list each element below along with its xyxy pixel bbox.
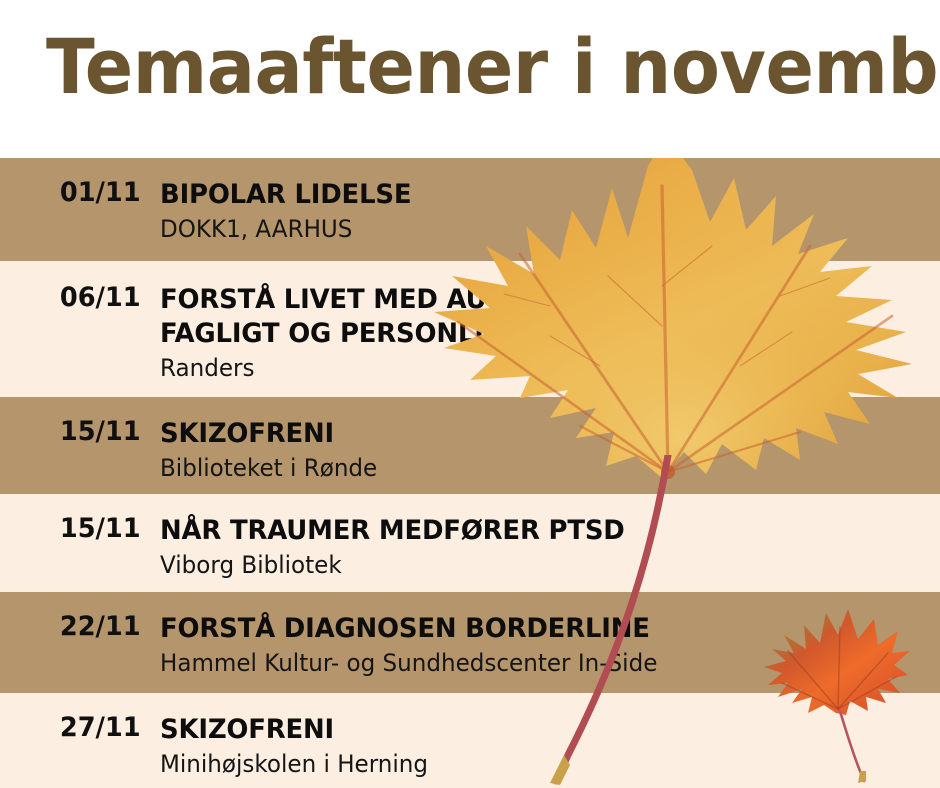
event-body: BIPOLAR LIDELSEDOKK1, AARHUS bbox=[160, 178, 940, 244]
event-body: SKIZOFRENIMinihøjskolen i Herning bbox=[160, 713, 940, 779]
schedule-row: 27/11SKIZOFRENIMinihøjskolen i Herning bbox=[0, 693, 940, 788]
event-body: NÅR TRAUMER MEDFØRER PTSDViborg Bibliote… bbox=[160, 514, 940, 580]
event-title: FORSTÅ LIVET MED AUTISME UD FRA ET bbox=[160, 283, 899, 317]
event-date: 27/11 bbox=[0, 713, 152, 743]
event-body: FORSTÅ DIAGNOSEN BORDERLINEHammel Kultur… bbox=[160, 612, 940, 678]
schedule-row: 01/11BIPOLAR LIDELSEDOKK1, AARHUS bbox=[0, 158, 940, 261]
event-venue: Viborg Bibliotek bbox=[160, 550, 899, 580]
event-date: 06/11 bbox=[0, 283, 152, 313]
poster-header: Temaaftener i november bbox=[0, 0, 940, 158]
event-date: 15/11 bbox=[0, 514, 152, 544]
event-title-line2: FAGLIGT OG PERSONLIGT PERSPEKTIV bbox=[160, 317, 899, 351]
event-title: SKIZOFRENI bbox=[160, 713, 899, 747]
page-title: Temaaftener i november bbox=[46, 24, 940, 110]
event-venue: Randers bbox=[160, 353, 899, 383]
poster-canvas: Temaaftener i november 01/11BIPOLAR LIDE… bbox=[0, 0, 940, 788]
event-body: SKIZOFRENIBiblioteket i Rønde bbox=[160, 417, 940, 483]
schedule-list: 01/11BIPOLAR LIDELSEDOKK1, AARHUS06/11FO… bbox=[0, 158, 940, 788]
schedule-row: 22/11FORSTÅ DIAGNOSEN BORDERLINEHammel K… bbox=[0, 592, 940, 693]
event-venue: DOKK1, AARHUS bbox=[160, 214, 899, 244]
event-venue: Biblioteket i Rønde bbox=[160, 453, 899, 483]
schedule-row: 15/11NÅR TRAUMER MEDFØRER PTSDViborg Bib… bbox=[0, 494, 940, 592]
event-venue: Hammel Kultur- og Sundhedscenter In-Side bbox=[160, 648, 899, 678]
event-body: FORSTÅ LIVET MED AUTISME UD FRA ETFAGLIG… bbox=[160, 283, 940, 383]
event-date: 15/11 bbox=[0, 417, 152, 447]
event-title: FORSTÅ DIAGNOSEN BORDERLINE bbox=[160, 612, 899, 646]
event-title: NÅR TRAUMER MEDFØRER PTSD bbox=[160, 514, 899, 548]
event-date: 01/11 bbox=[0, 178, 152, 208]
schedule-row: 06/11FORSTÅ LIVET MED AUTISME UD FRA ETF… bbox=[0, 261, 940, 397]
schedule-row: 15/11SKIZOFRENIBiblioteket i Rønde bbox=[0, 397, 940, 494]
event-venue: Minihøjskolen i Herning bbox=[160, 749, 899, 779]
event-title: BIPOLAR LIDELSE bbox=[160, 178, 899, 212]
event-date: 22/11 bbox=[0, 612, 152, 642]
event-title: SKIZOFRENI bbox=[160, 417, 899, 451]
